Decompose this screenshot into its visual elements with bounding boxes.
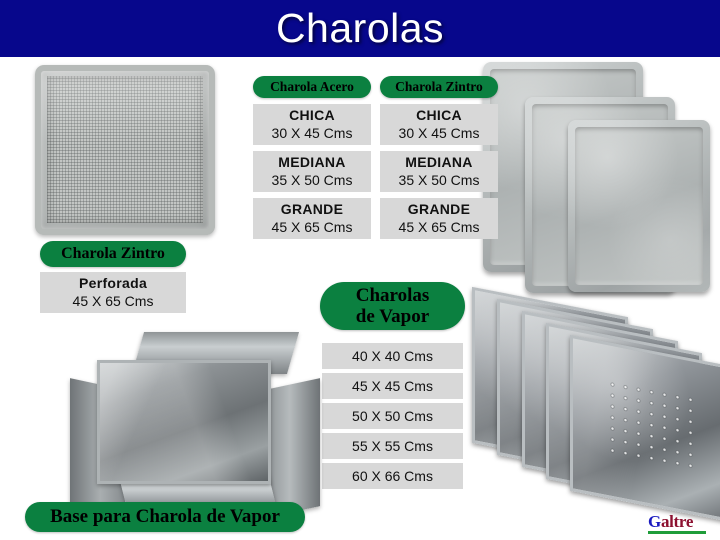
zintro-row-grande-name: GRANDE	[408, 201, 470, 219]
vapor-size-4-text: 55 X 55 Cms	[352, 437, 433, 455]
vapor-size-3-text: 50 X 50 Cms	[352, 407, 433, 425]
zintro-row-grande: GRANDE 45 X 65 Cms	[380, 198, 498, 239]
steam-tray-base-photo	[60, 322, 325, 512]
acero-row-mediana-name: MEDIANA	[278, 154, 345, 172]
vapor-size-3: 50 X 50 Cms	[322, 403, 463, 429]
zintro-row-mediana-dimension: 35 X 50 Cms	[399, 171, 480, 189]
page-title: Charolas	[0, 0, 720, 57]
vapor-size-4: 55 X 55 Cms	[322, 433, 463, 459]
tray-small-highlight	[568, 120, 710, 292]
three-galvanized-trays-photo	[483, 62, 715, 294]
tray-small	[568, 120, 710, 292]
label-charola-acero: Charola Acero	[253, 76, 371, 98]
perforada-row: Perforada 45 X 65 Cms	[40, 272, 186, 313]
label-charolas-de-vapor-line2: de Vapor	[356, 306, 429, 327]
galtre-logo: Galtre	[648, 512, 710, 536]
zintro-row-chica-dimension: 30 X 45 Cms	[399, 124, 480, 142]
vapor-tray-5	[570, 335, 720, 521]
vapor-size-1-text: 40 X 40 Cms	[352, 347, 433, 365]
galtre-logo-underline	[648, 531, 706, 534]
acero-row-chica: CHICA 30 X 45 Cms	[253, 104, 371, 145]
tray-rim	[35, 65, 215, 235]
vapor-size-2: 45 X 45 Cms	[322, 373, 463, 399]
galtre-logo-rest: altre	[661, 512, 693, 531]
label-charola-zintro-perforada: Charola Zintro	[40, 241, 186, 267]
acero-row-mediana-dimension: 35 X 50 Cms	[272, 171, 353, 189]
vapor-size-2-text: 45 X 45 Cms	[352, 377, 433, 395]
galtre-logo-initial: G	[648, 512, 661, 531]
label-charolas-de-vapor-line1: Charolas	[356, 285, 430, 306]
acero-row-grande-dimension: 45 X 65 Cms	[272, 218, 353, 236]
label-charola-zintro-text: Charola Zintro	[395, 79, 483, 94]
galtre-logo-wordmark: Galtre	[648, 512, 710, 531]
zintro-row-chica: CHICA 30 X 45 Cms	[380, 104, 498, 145]
zintro-row-chica-name: CHICA	[416, 107, 462, 125]
perforada-row-name: Perforada	[79, 275, 147, 293]
vapor-size-1: 40 X 40 Cms	[322, 343, 463, 369]
perforated-tray-photo	[35, 65, 215, 235]
perforada-row-dimension: 45 X 65 Cms	[73, 292, 154, 310]
vapor-size-5-text: 60 X 66 Cms	[352, 467, 433, 485]
base-pan-sheen	[100, 363, 268, 481]
acero-row-grande-name: GRANDE	[281, 201, 343, 219]
stacked-steam-trays-photo	[472, 302, 720, 524]
zintro-row-mediana-name: MEDIANA	[405, 154, 472, 172]
header-banner: Charolas	[0, 0, 720, 57]
acero-row-mediana: MEDIANA 35 X 50 Cms	[253, 151, 371, 192]
zintro-row-mediana: MEDIANA 35 X 50 Cms	[380, 151, 498, 192]
label-charola-zintro: Charola Zintro	[380, 76, 498, 98]
label-base-para-charola-de-vapor-text: Base para Charola de Vapor	[50, 506, 280, 527]
base-center-pan	[97, 360, 271, 484]
zintro-row-grande-dimension: 45 X 65 Cms	[399, 218, 480, 236]
label-base-para-charola-de-vapor: Base para Charola de Vapor	[25, 502, 305, 532]
acero-row-chica-dimension: 30 X 45 Cms	[272, 124, 353, 142]
acero-row-chica-name: CHICA	[289, 107, 335, 125]
label-charola-zintro-perforada-text: Charola Zintro	[61, 245, 165, 263]
vapor-size-5: 60 X 66 Cms	[322, 463, 463, 489]
label-charola-acero-text: Charola Acero	[270, 79, 354, 94]
acero-row-grande: GRANDE 45 X 65 Cms	[253, 198, 371, 239]
label-charolas-de-vapor: Charolas de Vapor	[320, 282, 465, 330]
poster-canvas: Charolas Charola Acero CHICA 30 X 45 Cms…	[0, 0, 720, 540]
